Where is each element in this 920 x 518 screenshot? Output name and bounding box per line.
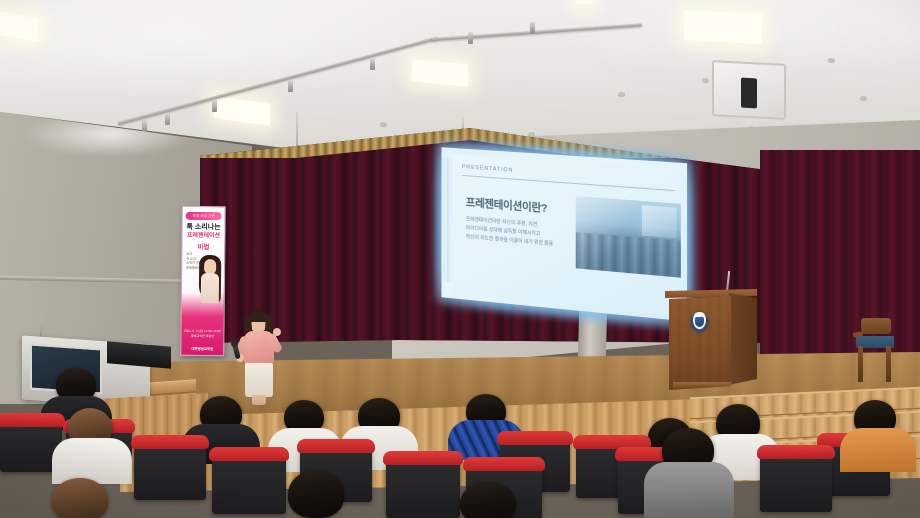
projection-screen: PRESENTATION 프레젠테이션이란? 프레젠테이션이란 자신의 주장, … <box>441 147 687 321</box>
track-light-head <box>468 32 473 44</box>
ceiling-fixture-dot <box>702 78 709 82</box>
banner-headline-2: 프레젠테이션 <box>182 233 224 240</box>
ceiling-air-vent <box>712 60 786 120</box>
stage-chair <box>852 318 896 386</box>
slide-header-rule <box>462 175 675 191</box>
chair-backrest <box>861 318 891 334</box>
banner-headline-1: 톡 소리나는 <box>183 224 225 232</box>
event-banner: 특별 초청 강연 톡 소리나는 프레젠테이션 비법 강사 박 O O 스피치 전… <box>180 206 226 356</box>
audience-shoulders <box>840 428 916 472</box>
banner-footer: 2024. 6. 7.(금) 14:00~16:00 평생교육관 대강당 <box>181 329 223 338</box>
auditorium-seat <box>134 440 206 500</box>
auditorium-seat <box>212 452 286 514</box>
ceiling-fixture-dot <box>860 96 867 100</box>
banner-schedule: 2024. 6. 7.(금) 14:00~16:00 <box>181 329 223 334</box>
auditorium-seat <box>386 456 460 518</box>
audience-shoulders <box>52 438 132 484</box>
track-light-head <box>212 100 217 112</box>
banner-ribbon: 특별 초청 강연 <box>186 212 222 220</box>
track-light-head <box>165 113 170 125</box>
chair-leg <box>858 346 863 382</box>
ceiling-panel-light <box>576 0 592 4</box>
slide-title: 프레젠테이션이란? <box>466 194 547 216</box>
slide-body: 프레젠테이션이란 자신의 주장, 의견, 아이디어를 상대에 납득할 이해시키고… <box>466 215 570 250</box>
ceiling-hanger <box>296 112 298 146</box>
audience-head <box>460 482 516 518</box>
podium-front-panel <box>669 296 731 390</box>
podium-side-panel <box>729 293 757 385</box>
slide-header: PRESENTATION <box>462 164 513 173</box>
track-light-head <box>370 58 375 70</box>
banner-logo: 대학평생교육원 <box>181 346 223 351</box>
slide-stack-edge <box>443 157 451 283</box>
auditorium-photo: PRESENTATION 프레젠테이션이란? 프레젠테이션이란 자신의 주장, … <box>0 0 920 518</box>
track-light-head <box>142 120 147 132</box>
banner-headline-3: 비법 <box>182 241 224 251</box>
ceiling-fixture-dot <box>828 58 835 62</box>
ceiling-fixture-dot <box>618 92 625 96</box>
university-emblem-icon <box>691 312 708 332</box>
portrait-body <box>201 273 219 303</box>
track-light-head <box>530 22 535 34</box>
audience-shoulders <box>644 462 734 518</box>
presenter-person <box>232 306 286 402</box>
ceiling-fixture-dot <box>380 122 387 126</box>
podium <box>665 289 757 394</box>
presenter-right-hand <box>273 328 281 336</box>
banner-portrait <box>196 255 225 317</box>
ceiling-fixture-dot <box>528 132 535 136</box>
slide-photo <box>576 196 681 278</box>
audience-head <box>52 478 108 518</box>
chair-leg <box>886 346 891 382</box>
track-light-head <box>288 80 293 92</box>
banner-place: 평생교육관 대강당 <box>181 333 223 338</box>
audience-head <box>288 470 344 518</box>
portrait-face <box>204 259 216 274</box>
presenter-legs <box>252 395 266 405</box>
banner-ribbon-text: 특별 초청 강연 <box>186 212 222 220</box>
presenter-skirt <box>245 363 273 397</box>
auditorium-seat <box>760 450 832 512</box>
ceiling-panel-light <box>684 10 762 44</box>
presentation-slide: PRESENTATION 프레젠테이션이란? 프레젠테이션이란 자신의 주장, … <box>453 154 683 317</box>
